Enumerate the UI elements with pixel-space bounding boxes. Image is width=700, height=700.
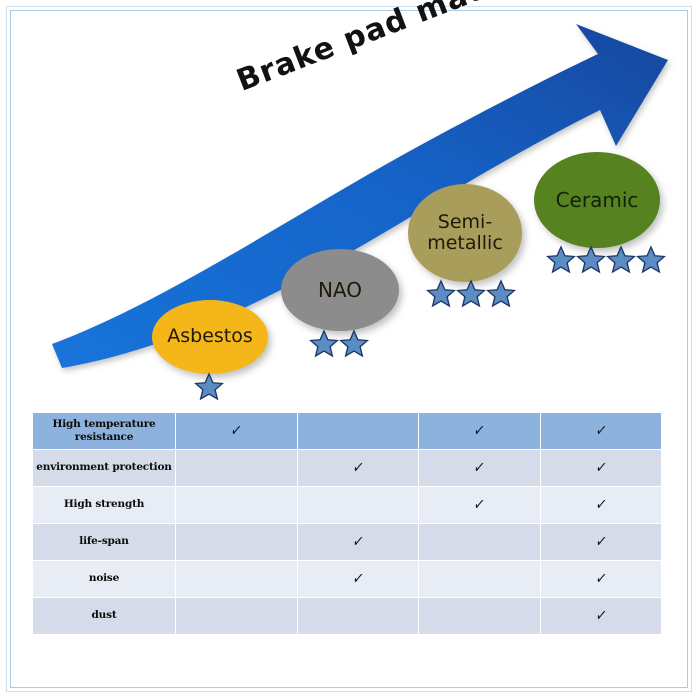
check-icon: ✓	[351, 531, 365, 553]
cell-check: ✓	[541, 598, 662, 634]
table-row: dust✓	[33, 598, 661, 634]
cell-empty	[176, 450, 297, 486]
cell-check: ✓	[541, 561, 662, 597]
cell-empty	[298, 598, 419, 634]
material-bubble-semi-metallic[interactable]: Semi- metallic	[408, 184, 522, 282]
star-icon	[339, 329, 369, 359]
star-icon	[486, 279, 516, 309]
cell-empty	[176, 561, 297, 597]
material-label-nao: NAO	[318, 279, 362, 301]
cell-check: ✓	[298, 561, 419, 597]
star-rating-ceramic	[546, 245, 666, 275]
check-icon: ✓	[351, 457, 365, 479]
star-icon	[576, 245, 606, 275]
cell-empty	[419, 561, 540, 597]
material-label-semi-metallic-line1: Semi-	[438, 212, 492, 233]
check-icon: ✓	[351, 568, 365, 590]
row-label: High temperature resistance	[33, 413, 175, 449]
row-label: noise	[33, 561, 175, 597]
star-icon	[309, 329, 339, 359]
cell-empty	[176, 524, 297, 560]
row-label: dust	[33, 598, 175, 634]
cell-check: ✓	[541, 450, 662, 486]
star-rating-semi-metallic	[426, 279, 516, 309]
row-label: environment protection	[33, 450, 175, 486]
check-icon: ✓	[594, 494, 608, 516]
check-icon: ✓	[594, 568, 608, 590]
cell-check: ✓	[541, 487, 662, 523]
star-rating-asbestos	[194, 372, 224, 402]
cell-empty	[298, 487, 419, 523]
cell-check: ✓	[298, 450, 419, 486]
table-row: High strength✓✓	[33, 487, 661, 523]
material-bubble-nao[interactable]: NAO	[281, 249, 399, 331]
material-label-semi-metallic-line2: metallic	[427, 233, 503, 254]
check-icon: ✓	[472, 457, 486, 479]
star-icon	[426, 279, 456, 309]
cell-empty	[176, 487, 297, 523]
star-icon	[456, 279, 486, 309]
cell-check: ✓	[298, 524, 419, 560]
check-icon: ✓	[594, 457, 608, 479]
row-label: High strength	[33, 487, 175, 523]
star-icon	[636, 245, 666, 275]
material-label-asbestos: Asbestos	[167, 326, 253, 347]
check-icon: ✓	[594, 605, 608, 627]
check-icon: ✓	[594, 531, 608, 553]
cell-check: ✓	[541, 524, 662, 560]
cell-check: ✓	[419, 487, 540, 523]
star-icon	[194, 372, 224, 402]
slide-canvas: Brake pad materials Asbestos NAO Semi- m…	[0, 0, 700, 700]
cell-check: ✓	[176, 413, 297, 449]
cell-check: ✓	[541, 413, 662, 449]
material-bubble-ceramic[interactable]: Ceramic	[534, 152, 660, 248]
material-bubble-asbestos[interactable]: Asbestos	[152, 300, 268, 374]
material-label-ceramic: Ceramic	[556, 189, 639, 211]
cell-empty	[176, 598, 297, 634]
check-icon: ✓	[472, 494, 486, 516]
row-label: life-span	[33, 524, 175, 560]
cell-check: ✓	[419, 413, 540, 449]
table-row: High temperature resistance✓✓✓	[33, 413, 661, 449]
cell-empty	[419, 524, 540, 560]
check-icon: ✓	[229, 420, 243, 442]
star-icon	[606, 245, 636, 275]
comparison-table: High temperature resistance✓✓✓environmen…	[32, 412, 662, 635]
check-icon: ✓	[472, 420, 486, 442]
check-icon: ✓	[594, 420, 608, 442]
table-row: environment protection✓✓✓	[33, 450, 661, 486]
cell-check: ✓	[419, 450, 540, 486]
table-row: noise✓✓	[33, 561, 661, 597]
cell-empty	[298, 413, 419, 449]
cell-empty	[419, 598, 540, 634]
star-rating-nao	[309, 329, 369, 359]
table-row: life-span✓✓	[33, 524, 661, 560]
star-icon	[546, 245, 576, 275]
